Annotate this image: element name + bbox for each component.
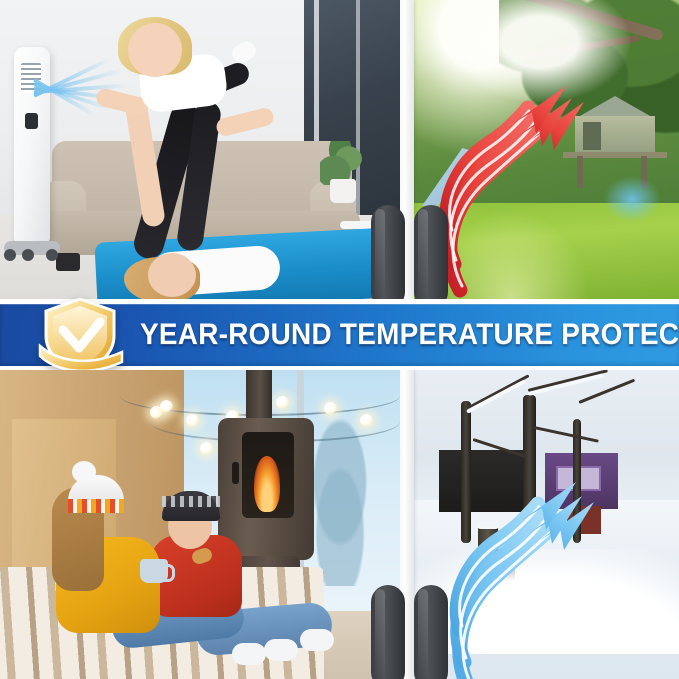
lens-flare-icon bbox=[603, 176, 661, 222]
draft-stopper-roll bbox=[371, 585, 405, 679]
product-feature-poster: YEAR-ROUND TEMPERATURE PROTECTION bbox=[0, 0, 679, 679]
dark-shed bbox=[439, 450, 534, 512]
panel-outdoor-snowy-yard bbox=[400, 370, 679, 679]
draft-stopper-roll bbox=[371, 205, 405, 299]
treehouse bbox=[563, 96, 667, 182]
fan-caster bbox=[46, 249, 58, 261]
sock bbox=[300, 629, 334, 651]
hat-pompom bbox=[72, 461, 96, 483]
sunlight-patch bbox=[433, 209, 589, 299]
light-bulb-icon bbox=[186, 414, 199, 427]
sock bbox=[264, 639, 298, 661]
panel-bottom-row bbox=[0, 370, 679, 679]
woman-head bbox=[148, 253, 196, 297]
panel-outdoor-sunny-garden bbox=[400, 0, 679, 299]
light-bulb-icon bbox=[160, 400, 173, 413]
man-hat-pattern bbox=[162, 496, 220, 507]
banner-headline: YEAR-ROUND TEMPERATURE PROTECTION bbox=[140, 318, 679, 352]
stove-glass-door bbox=[242, 432, 294, 518]
light-bulb-icon bbox=[324, 402, 337, 415]
mug bbox=[140, 559, 168, 583]
light-bulb-icon bbox=[360, 414, 373, 427]
fire-flame-icon bbox=[254, 456, 280, 512]
draft-stopper-roll bbox=[414, 585, 448, 679]
light-bulb-icon bbox=[200, 442, 213, 455]
sun-glare-icon bbox=[450, 0, 630, 102]
fan-display-panel bbox=[25, 113, 38, 129]
panel-indoor-living-room-summer bbox=[0, 0, 400, 299]
stove-handle bbox=[232, 462, 239, 484]
sofa-leg-left bbox=[56, 253, 80, 271]
plant-pot bbox=[330, 179, 356, 203]
bare-tree-trunk bbox=[461, 401, 471, 543]
fan-caster bbox=[22, 249, 34, 261]
treehouse-door bbox=[583, 122, 601, 150]
fan-caster bbox=[4, 249, 16, 261]
light-bulb-icon bbox=[276, 396, 289, 409]
sock bbox=[232, 643, 266, 665]
draft-stopper-roll bbox=[414, 205, 448, 299]
shield-check-icon bbox=[34, 296, 126, 376]
woman-hat-pattern bbox=[68, 499, 124, 513]
treehouse-post bbox=[577, 156, 583, 188]
child-head bbox=[128, 23, 182, 77]
panel-top-row bbox=[0, 0, 679, 299]
panel-indoor-cozy-winter bbox=[0, 370, 400, 679]
bare-tree-trunk bbox=[523, 395, 536, 550]
stove-flue-pipe bbox=[246, 370, 272, 424]
